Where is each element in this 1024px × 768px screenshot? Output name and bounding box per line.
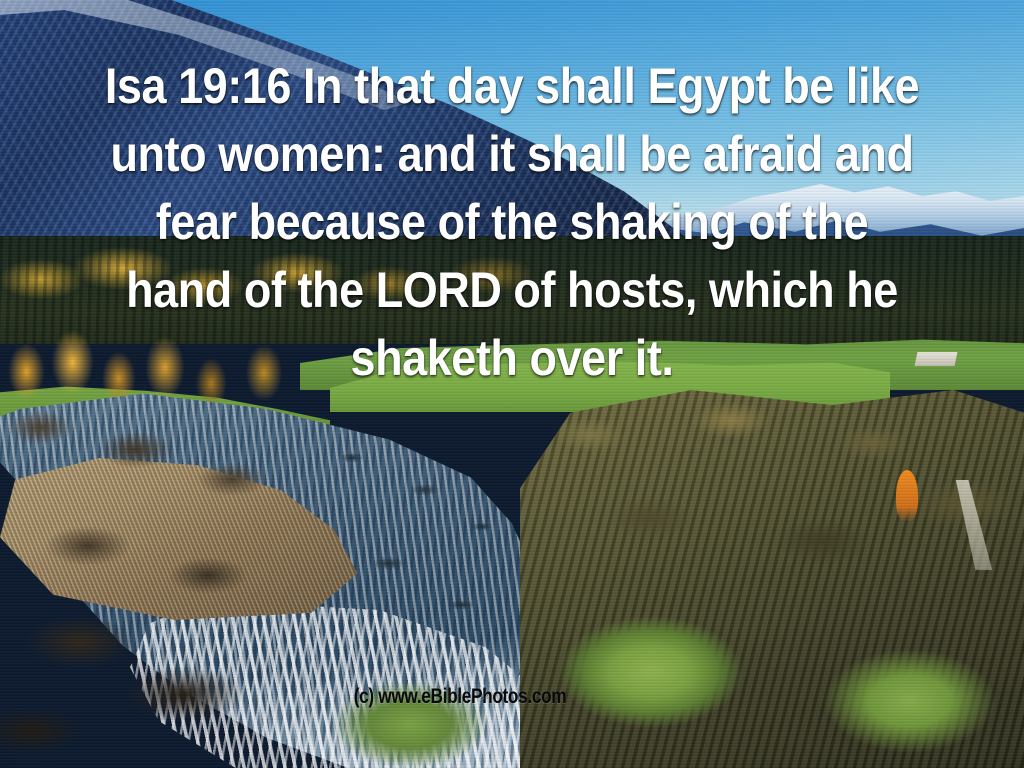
copyright-watermark: (c) www.eBiblePhotos.com: [83, 686, 837, 708]
green-bush: [820, 646, 1000, 756]
farm-building: [915, 352, 958, 366]
orange-autumn-tree: [896, 470, 918, 522]
scripture-photo-canvas: Isa 19:16 In that day shall Egypt be lik…: [0, 0, 1024, 768]
green-bush: [556, 612, 746, 732]
